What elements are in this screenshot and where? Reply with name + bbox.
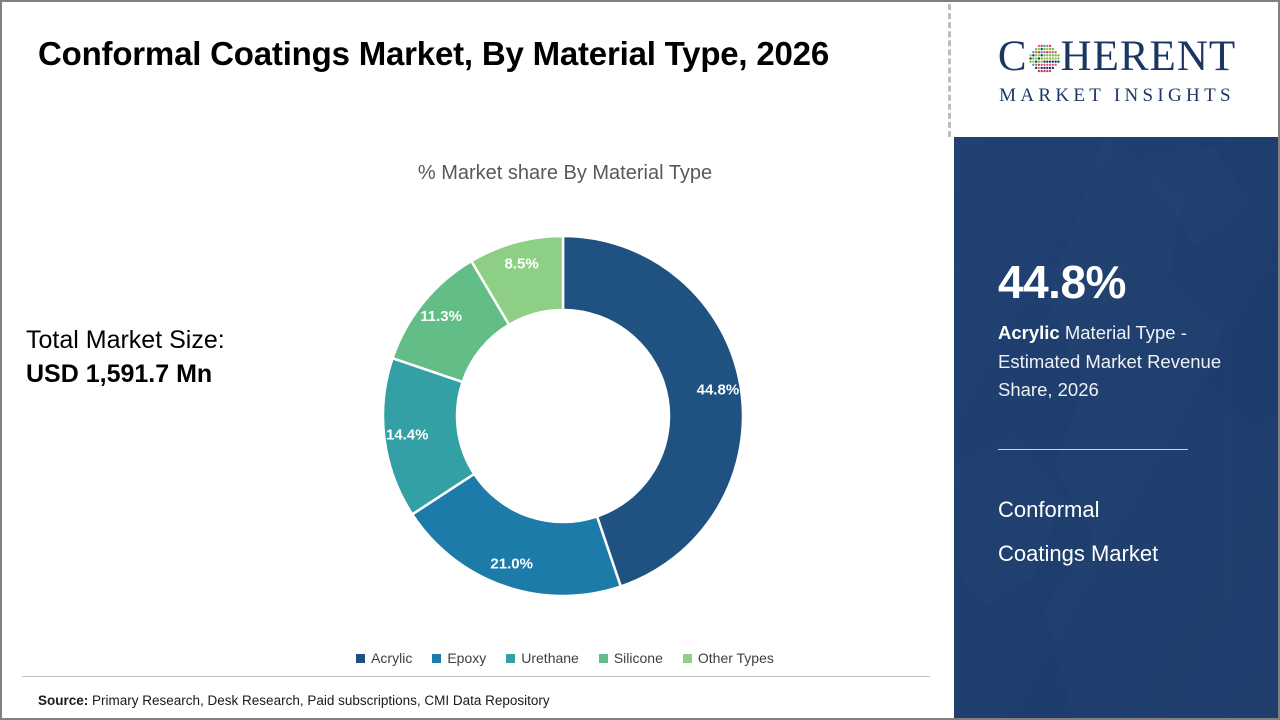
donut-slice-label: 8.5% <box>504 256 538 273</box>
globe-dot <box>1057 60 1059 62</box>
highlight-panel-divider <box>998 449 1188 450</box>
globe-dot <box>1034 51 1036 53</box>
globe-dot <box>1046 63 1048 65</box>
globe-dot <box>1032 51 1034 53</box>
globe-dot <box>1043 66 1045 68</box>
globe-dot <box>1048 66 1050 68</box>
logo-letter-c: C <box>998 35 1028 78</box>
globe-dot <box>1046 66 1048 68</box>
highlight-panel-content: 44.8% Acrylic Material Type - Estimated … <box>998 137 1262 575</box>
legend-item-label: Other Types <box>698 650 774 666</box>
legend-item[interactable]: Epoxy <box>432 650 486 666</box>
globe-dot <box>1040 44 1042 46</box>
globe-dot <box>1048 69 1050 71</box>
globe-dot <box>1032 63 1034 65</box>
market-name-line-1: Conformal <box>998 488 1262 532</box>
donut-chart-svg: 44.8%21.0%14.4%11.3%8.5% <box>380 233 746 599</box>
globe-dot <box>1051 60 1053 62</box>
legend-swatch-icon <box>506 654 515 663</box>
globe-dot <box>1037 57 1039 59</box>
globe-dot <box>1048 54 1050 56</box>
globe-dot <box>1051 66 1053 68</box>
page-title: Conformal Coatings Market, By Material T… <box>38 30 878 79</box>
globe-dot <box>1029 54 1031 56</box>
legend-item-label: Urethane <box>521 650 579 666</box>
highlight-stat-caption: Acrylic Material Type - Estimated Market… <box>998 319 1262 405</box>
globe-dot <box>1037 63 1039 65</box>
globe-dot <box>1048 63 1050 65</box>
globe-dot <box>1048 60 1050 62</box>
globe-dot <box>1043 60 1045 62</box>
legend-item-label: Acrylic <box>371 650 412 666</box>
legend-item-label: Epoxy <box>447 650 486 666</box>
globe-dot <box>1037 47 1039 49</box>
highlight-stat-value: 44.8% <box>998 259 1262 305</box>
logo-tagline: MARKET INSIGHTS <box>999 85 1235 107</box>
legend-item-label: Silicone <box>614 650 663 666</box>
globe-dot <box>1037 60 1039 62</box>
globe-dot <box>1051 51 1053 53</box>
globe-dot <box>1043 63 1045 65</box>
globe-dot <box>1054 57 1056 59</box>
globe-dot <box>1040 51 1042 53</box>
globe-dot <box>1034 63 1036 65</box>
globe-dot <box>1037 44 1039 46</box>
globe-dot <box>1029 60 1031 62</box>
donut-slice-label: 11.3% <box>420 308 462 325</box>
donut-slice-group <box>383 236 743 596</box>
source-text: Primary Research, Desk Research, Paid su… <box>88 693 549 708</box>
market-name-line-2: Coatings Market <box>998 532 1262 576</box>
globe-dot <box>1043 54 1045 56</box>
infographic-page: Conformal Coatings Market, By Material T… <box>0 0 1280 720</box>
globe-dot <box>1043 44 1045 46</box>
globe-dot <box>1046 51 1048 53</box>
donut-slice-label: 44.8% <box>697 381 740 398</box>
globe-dot <box>1057 54 1059 56</box>
globe-dot <box>1051 47 1053 49</box>
total-market-size-block: Total Market Size: USD 1,591.7 Mn <box>26 324 326 392</box>
globe-dot <box>1034 57 1036 59</box>
globe-dot <box>1043 51 1045 53</box>
globe-dot <box>1051 57 1053 59</box>
globe-dot <box>1040 63 1042 65</box>
chart-legend: AcrylicEpoxyUrethaneSiliconeOther Types <box>255 650 875 666</box>
donut-slice-label: 21.0% <box>490 555 533 572</box>
legend-swatch-icon <box>683 654 692 663</box>
footer-divider <box>22 676 930 677</box>
highlight-caption-bold: Acrylic <box>998 322 1060 343</box>
left-content-pane: Conformal Coatings Market, By Material T… <box>2 2 950 718</box>
legend-item[interactable]: Silicone <box>599 650 663 666</box>
globe-dot <box>1040 66 1042 68</box>
globe-dot <box>1043 69 1045 71</box>
globe-icon <box>1029 43 1060 74</box>
legend-item[interactable]: Urethane <box>506 650 579 666</box>
globe-dot <box>1046 57 1048 59</box>
globe-dot <box>1034 66 1036 68</box>
globe-dot <box>1040 60 1042 62</box>
globe-dot <box>1051 54 1053 56</box>
globe-dot <box>1034 47 1036 49</box>
globe-dot <box>1034 54 1036 56</box>
globe-dot <box>1034 60 1036 62</box>
globe-dot <box>1046 60 1048 62</box>
total-market-size-label: Total Market Size: <box>26 324 326 358</box>
globe-dot <box>1040 57 1042 59</box>
globe-dot <box>1048 51 1050 53</box>
globe-dot <box>1051 63 1053 65</box>
globe-dot <box>1054 63 1056 65</box>
vertical-dashed-separator <box>948 4 951 137</box>
highlight-panel: 44.8% Acrylic Material Type - Estimated … <box>954 137 1280 720</box>
legend-item[interactable]: Acrylic <box>356 650 412 666</box>
globe-dot <box>1032 60 1034 62</box>
globe-dot <box>1046 54 1048 56</box>
globe-dot <box>1037 54 1039 56</box>
globe-dot <box>1046 69 1048 71</box>
globe-dot <box>1057 57 1059 59</box>
globe-dot <box>1048 57 1050 59</box>
globe-dot <box>1032 57 1034 59</box>
globe-dot <box>1048 44 1050 46</box>
legend-swatch-icon <box>356 654 365 663</box>
globe-dot <box>1043 47 1045 49</box>
donut-slice-label: 14.4% <box>386 427 429 444</box>
globe-dot <box>1043 57 1045 59</box>
source-label: Source: <box>38 693 88 708</box>
logo-wordmark: C HERENT <box>998 35 1236 78</box>
globe-dot <box>1037 51 1039 53</box>
globe-dot <box>1037 66 1039 68</box>
logo-word-herent: HERENT <box>1061 35 1237 78</box>
legend-swatch-icon <box>599 654 608 663</box>
globe-dot <box>1040 47 1042 49</box>
globe-dot <box>1029 57 1031 59</box>
globe-dot <box>1037 69 1039 71</box>
globe-dot <box>1032 54 1034 56</box>
globe-dot <box>1048 47 1050 49</box>
legend-swatch-icon <box>432 654 441 663</box>
globe-dot <box>1054 51 1056 53</box>
total-market-size-value: USD 1,591.7 Mn <box>26 358 326 392</box>
legend-item[interactable]: Other Types <box>683 650 774 666</box>
globe-dot <box>1046 47 1048 49</box>
donut-chart: 44.8%21.0%14.4%11.3%8.5% <box>380 233 746 599</box>
globe-dot <box>1040 69 1042 71</box>
highlight-market-name: Conformal Coatings Market <box>998 488 1262 575</box>
globe-dot <box>1046 44 1048 46</box>
globe-dot <box>1040 54 1042 56</box>
globe-dot <box>1054 60 1056 62</box>
source-line: Source: Primary Research, Desk Research,… <box>38 693 550 708</box>
chart-subtitle: % Market share By Material Type <box>255 162 875 185</box>
brand-logo: C HERENT MARKET INSIGHTS <box>954 4 1280 137</box>
globe-dot <box>1054 54 1056 56</box>
